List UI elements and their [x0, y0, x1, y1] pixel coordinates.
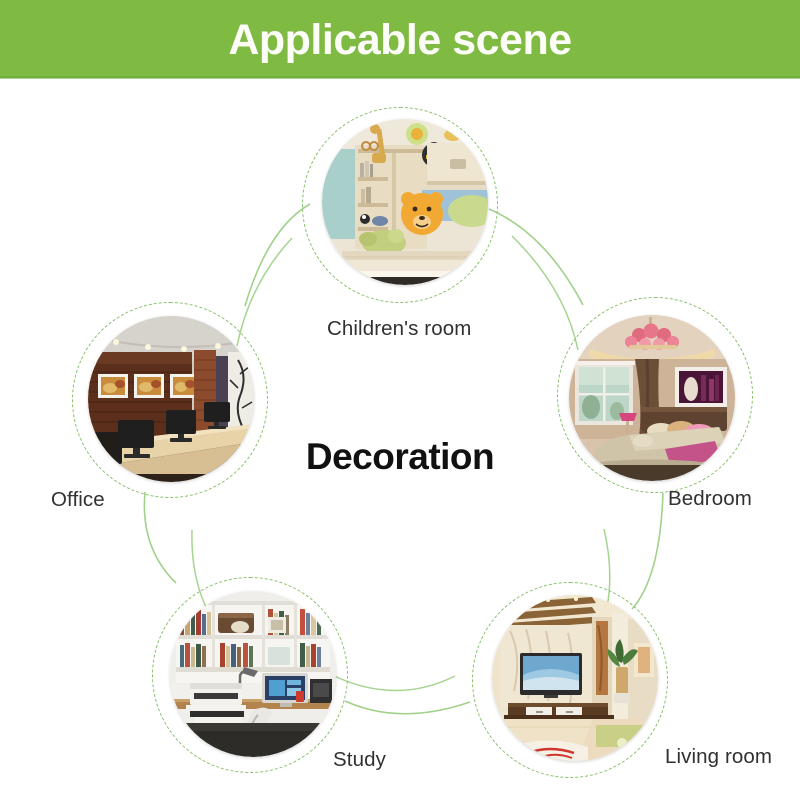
scene-node-office[interactable]	[72, 302, 268, 498]
living-room-photo	[492, 595, 658, 761]
bedroom-photo	[569, 315, 735, 481]
scene-label-office: Office	[51, 488, 105, 512]
study-photo	[170, 591, 336, 757]
scene-label-bedroom: Bedroom	[668, 487, 752, 511]
scene-label-study: Study	[333, 748, 386, 772]
scene-diagram: Children's room	[0, 78, 800, 800]
page-title: Applicable scene	[228, 19, 571, 62]
scene-node-bedroom[interactable]	[557, 297, 753, 493]
applicable-scene-infographic: Applicable scene	[0, 0, 800, 800]
office-photo	[88, 316, 254, 482]
scene-node-children-room[interactable]	[302, 107, 498, 303]
center-caption: Decoration	[250, 436, 550, 478]
header-banner: Applicable scene	[0, 0, 800, 78]
scene-node-study[interactable]	[152, 577, 348, 773]
scene-label-children-room: Children's room	[327, 317, 471, 341]
scene-label-living-room: Living room	[665, 745, 772, 769]
children-room-photo	[322, 119, 488, 285]
scene-node-living-room[interactable]	[472, 582, 668, 778]
